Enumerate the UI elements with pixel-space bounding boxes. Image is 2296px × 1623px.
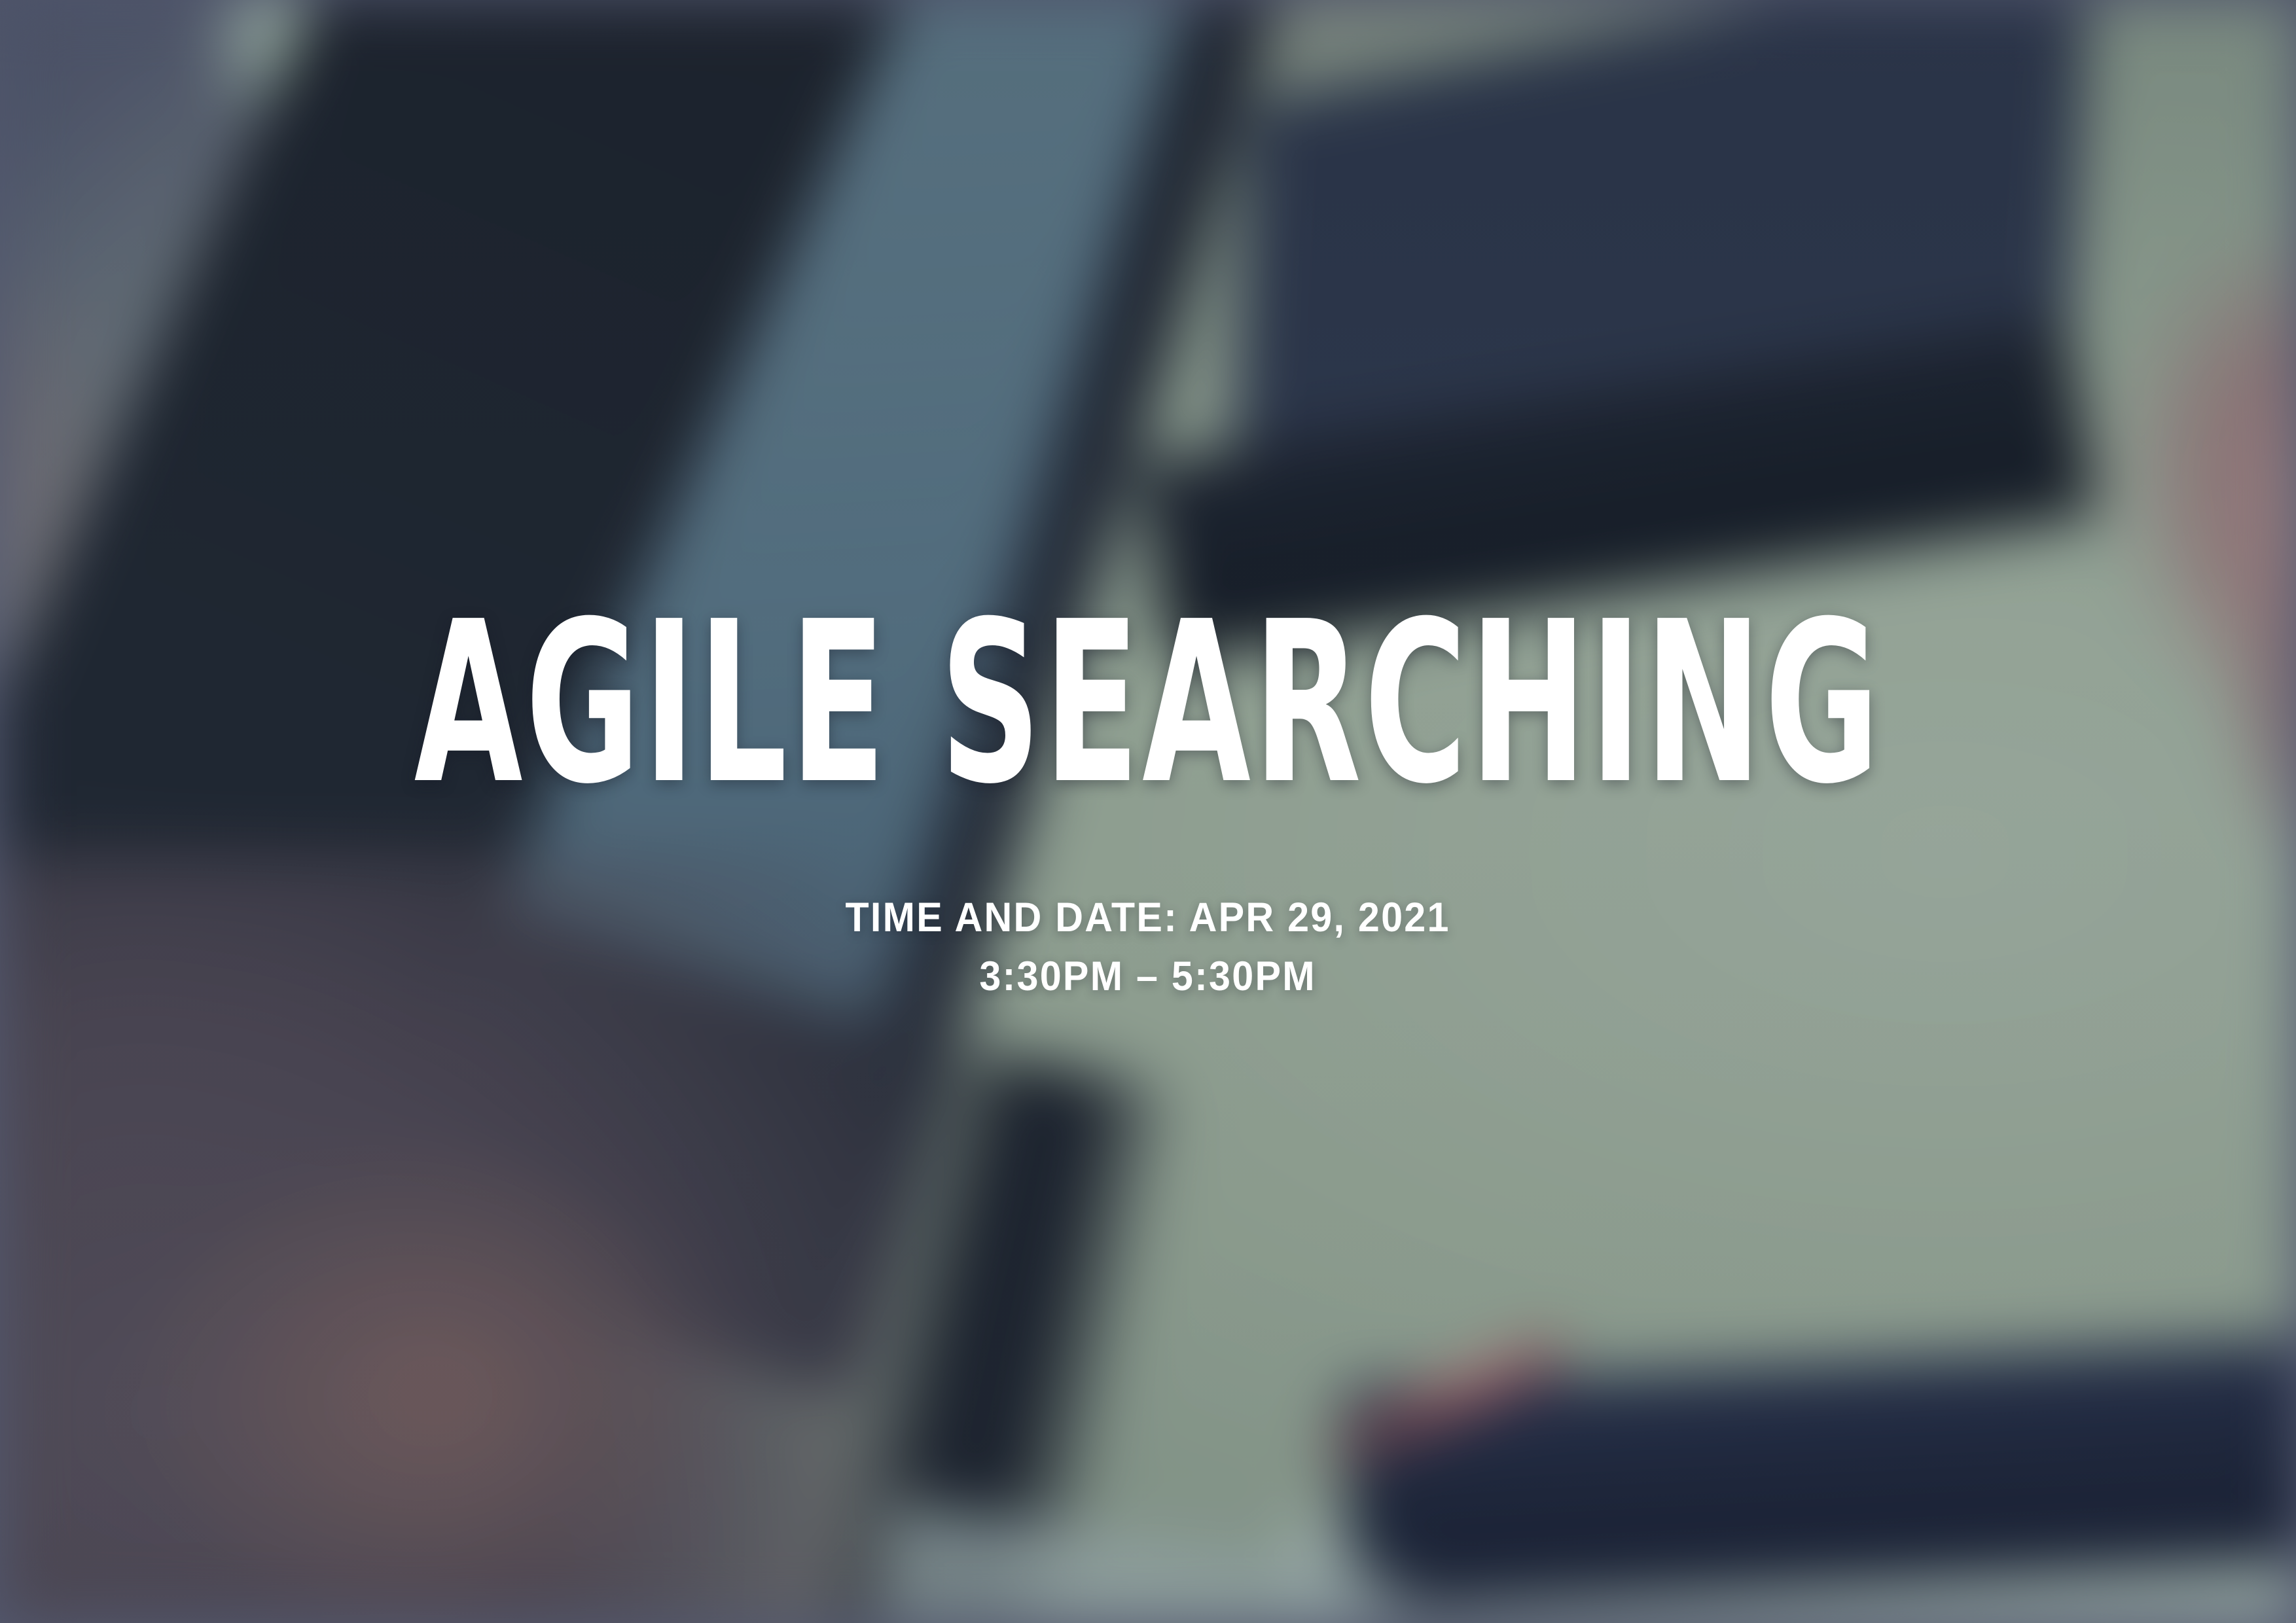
subtitle-time-line: 3:30PM – 5:30PM bbox=[846, 948, 1450, 1006]
poster-content: AGILE SEARCHING TIME AND DATE: APR 29, 2… bbox=[0, 0, 2296, 1623]
subtitle-date-line: TIME AND DATE: APR 29, 2021 bbox=[846, 889, 1450, 947]
event-poster: AGILE SEARCHING TIME AND DATE: APR 29, 2… bbox=[0, 0, 2296, 1623]
poster-subtitle: TIME AND DATE: APR 29, 2021 3:30PM – 5:3… bbox=[846, 889, 1450, 1006]
poster-title: AGILE SEARCHING bbox=[414, 617, 1882, 791]
